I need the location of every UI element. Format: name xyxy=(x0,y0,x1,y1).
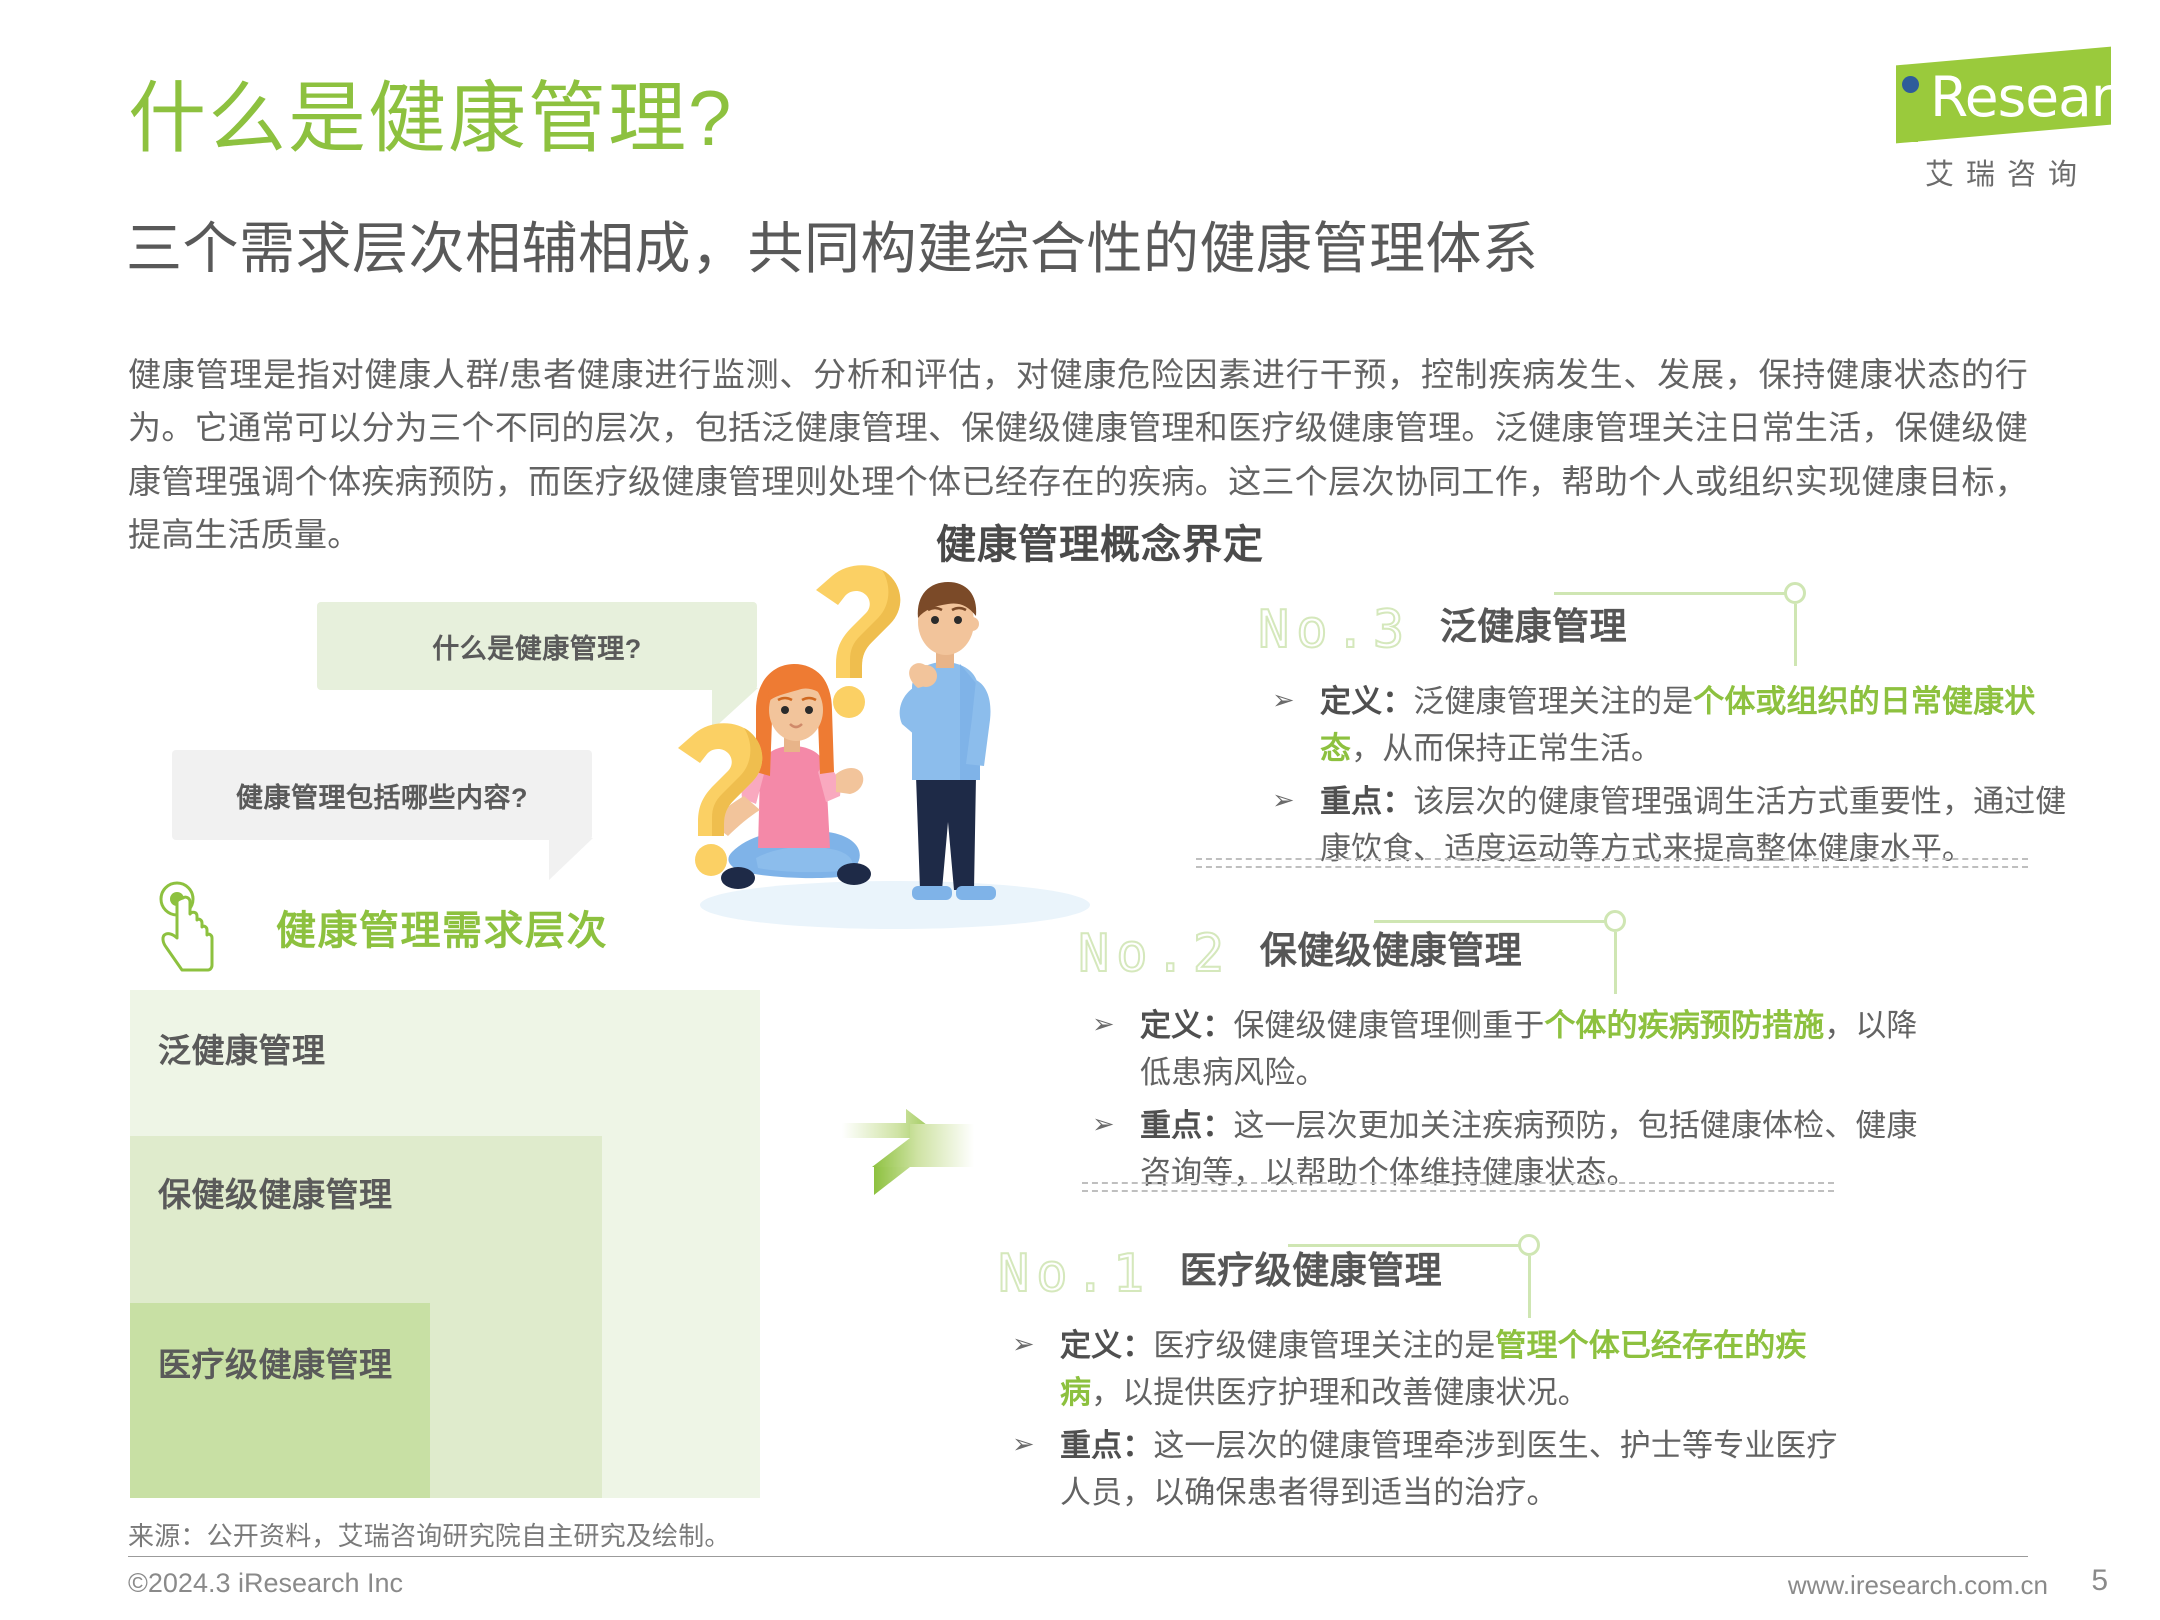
section-no1-number: No.1 xyxy=(998,1248,1151,1300)
section-no2-number: No.2 xyxy=(1078,928,1231,980)
bullet-text-before: 保健级健康管理侧重于 xyxy=(1233,1008,1544,1043)
connector-no3-hline xyxy=(1554,592,1794,595)
section-no1-bullets: 定义：医疗级健康管理关注的是管理个体已经存在的疾病，以提供医疗护理和改善健康状况… xyxy=(998,1322,1858,1516)
connector-no2-hline xyxy=(1374,920,1614,923)
section-no1-header: No.1 医疗级健康管理 xyxy=(998,1248,1858,1310)
bullet-highlight: 个体的疾病预防措施 xyxy=(1544,1008,1824,1043)
layer-label-general: 泛健康管理 xyxy=(158,1024,326,1072)
bullet-text-after: ，从而保持正常生活。 xyxy=(1351,731,1662,766)
slide-root: Research 艾瑞咨询 什么是健康管理? 三个需求层次相辅相成，共同构建综合… xyxy=(0,0,2160,1620)
bullet-text-before: 泛健康管理关注的是 xyxy=(1413,684,1693,719)
speech-bubble-includes: 健康管理包括哪些内容? xyxy=(172,750,592,840)
speech-bubble-1-label: 什么是健康管理? xyxy=(432,627,642,666)
health-levels-nested-blocks: 泛健康管理 保健级健康管理 医疗级健康管理 xyxy=(130,990,770,1500)
section-no3-header: No.3 泛健康管理 xyxy=(1258,604,2088,666)
standing-man xyxy=(900,582,996,900)
demand-levels-label: 健康管理需求层次 xyxy=(276,898,608,956)
page-subtitle: 三个需求层次相辅相成，共同构建综合性的健康管理体系 xyxy=(126,218,1539,280)
layer-label-medical: 医疗级健康管理 xyxy=(158,1338,393,1386)
separator-1 xyxy=(1196,858,2028,868)
illustration-people-questions xyxy=(660,560,1120,950)
speech-bubble-2-label: 健康管理包括哪些内容? xyxy=(236,776,528,815)
bullet-term: 定义： xyxy=(1060,1328,1153,1363)
logo-i-stem xyxy=(1903,100,1918,142)
layer-block-medical-health xyxy=(130,1303,430,1498)
section-no3-number: No.3 xyxy=(1258,604,1411,656)
layer-label-wellness: 保健级健康管理 xyxy=(158,1168,393,1216)
bullet-term: 定义： xyxy=(1320,684,1413,719)
section-no3-bullets: 定义：泛健康管理关注的是个体或组织的日常健康状态，从而保持正常生活。 重点：该层… xyxy=(1258,678,2088,872)
logo-chinese-name: 艾瑞咨询 xyxy=(1898,151,2116,193)
hand-tap-icon xyxy=(152,880,230,976)
bullet-term: 重点： xyxy=(1320,784,1413,819)
website-url: www.iresearch.com.cn xyxy=(1788,1570,2048,1601)
section-no1-name: 医疗级健康管理 xyxy=(1180,1248,1443,1294)
section-no3-name: 泛健康管理 xyxy=(1440,604,1628,650)
copyright-text: ©2024.3 iResearch Inc xyxy=(128,1568,403,1599)
page-number: 5 xyxy=(2091,1564,2108,1598)
section-no2-bullets: 定义：保健级健康管理侧重于个体的疾病预防措施，以降低患病风险。 重点：这一层次更… xyxy=(1078,1002,1938,1196)
bullet-text-before: 医疗级健康管理关注的是 xyxy=(1153,1328,1495,1363)
connector-no3-node xyxy=(1784,582,1806,604)
speech-bubble-2-tail xyxy=(549,838,593,880)
bullet-text-before: 该层次的健康管理强调生活方式重要性，通过健康饮食、适度运动等方式来提高整体健康水… xyxy=(1320,784,2066,866)
section-no2-name: 保健级健康管理 xyxy=(1260,928,1523,974)
logo-i-dot xyxy=(1902,76,1919,93)
bullet-definition: 定义：保健级健康管理侧重于个体的疾病预防措施，以降低患病风险。 xyxy=(1078,1002,1938,1096)
bullet-text-before: 这一层次的健康管理牵涉到医生、护士等专业医疗人员，以确保患者得到适当的治疗。 xyxy=(1060,1428,1838,1510)
footer-divider xyxy=(128,1556,2028,1557)
bullet-text-after: ，以提供医疗护理和改善健康状况。 xyxy=(1091,1375,1589,1410)
connector-no1-hline xyxy=(1288,1244,1528,1247)
section-no1: No.1 医疗级健康管理 定义：医疗级健康管理关注的是管理个体已经存在的疾病，以… xyxy=(998,1248,1858,1522)
source-note: 来源：公开资料，艾瑞咨询研究院自主研究及绘制。 xyxy=(128,1516,731,1553)
bullet-definition: 定义：泛健康管理关注的是个体或组织的日常健康状态，从而保持正常生活。 xyxy=(1258,678,2088,772)
section-no2: No.2 保健级健康管理 定义：保健级健康管理侧重于个体的疾病预防措施，以降低患… xyxy=(1078,928,1938,1202)
iresearch-logo: Research 艾瑞咨询 xyxy=(1858,48,2118,193)
separator-2 xyxy=(1082,1182,1834,1192)
bullet-definition: 定义：医疗级健康管理关注的是管理个体已经存在的疾病，以提供医疗护理和改善健康状况… xyxy=(998,1322,1858,1416)
exchange-arrows-icon xyxy=(838,1093,978,1201)
logo-wordmark: Research xyxy=(1930,70,2160,125)
section-no2-header: No.2 保健级健康管理 xyxy=(1078,928,1938,990)
section-no3: No.3 泛健康管理 定义：泛健康管理关注的是个体或组织的日常健康状态，从而保持… xyxy=(1258,604,2088,878)
page-title: 什么是健康管理? xyxy=(128,78,733,160)
bullet-term: 重点： xyxy=(1140,1108,1233,1143)
bullet-keypoint: 重点：这一层次的健康管理牵涉到医生、护士等专业医疗人员，以确保患者得到适当的治疗… xyxy=(998,1422,1858,1516)
bullet-term: 重点： xyxy=(1060,1428,1153,1463)
bullet-term: 定义： xyxy=(1140,1008,1233,1043)
bullet-text-before: 这一层次更加关注疾病预防，包括健康体检、健康咨询等，以帮助个体维持健康状态。 xyxy=(1140,1108,1918,1190)
